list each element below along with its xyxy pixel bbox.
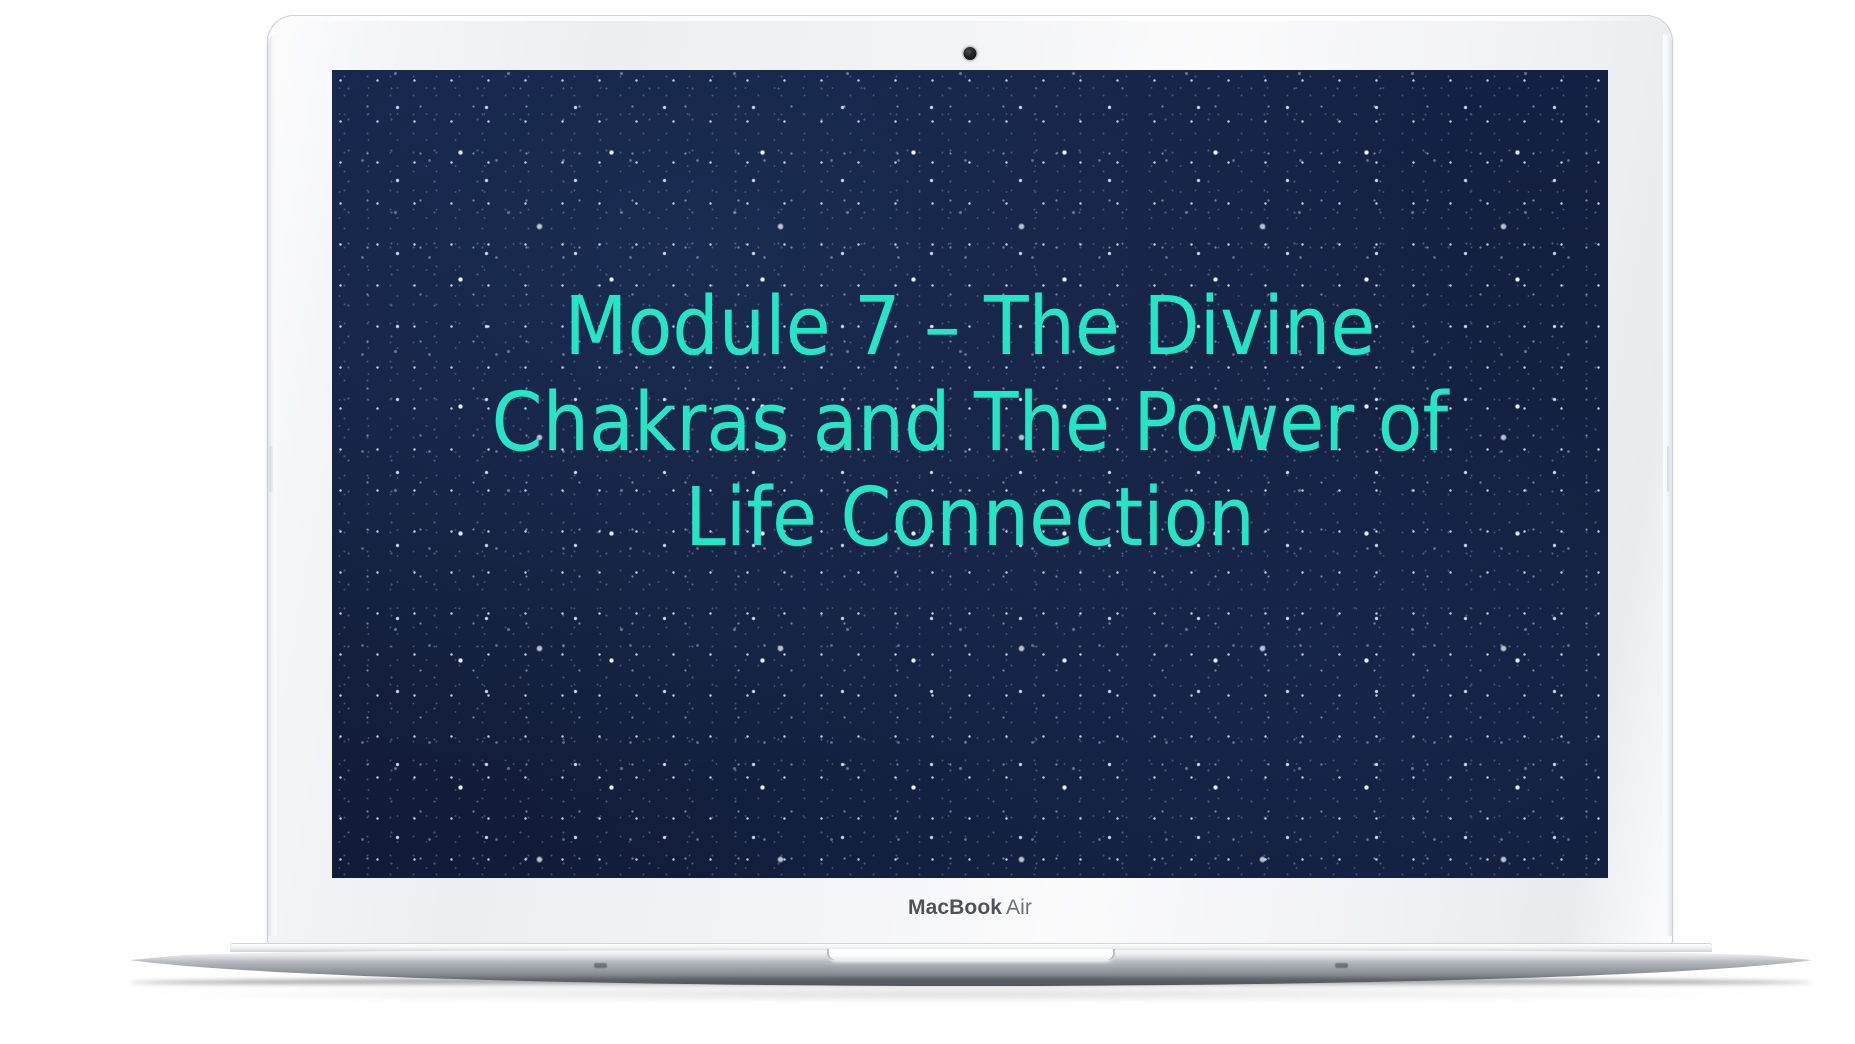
slide-title: Module 7 – The Divine Chakras and The Po… (332, 280, 1608, 567)
presentation-slide[interactable]: Module 7 – The Divine Chakras and The Po… (332, 70, 1608, 878)
base-foot (594, 963, 607, 968)
device-brand-label: MacBookAir (268, 896, 1672, 920)
brand-air-text: Air (1006, 896, 1032, 919)
hinge-icon (269, 446, 273, 492)
camera-icon (964, 47, 977, 60)
brand-macbook-text: MacBook (908, 896, 1002, 919)
laptop-lid: Module 7 – The Divine Chakras and The Po… (268, 16, 1672, 946)
laptop-screen[interactable]: Module 7 – The Divine Chakras and The Po… (332, 70, 1608, 878)
screenshot-canvas: Module 7 – The Divine Chakras and The Po… (0, 0, 1855, 1044)
lid-top-highlight (282, 16, 1658, 21)
desk-contact-shadow (140, 986, 1760, 1002)
base-foot (1335, 963, 1348, 968)
base-open-notch (829, 949, 1113, 960)
hinge-icon (1667, 446, 1671, 492)
